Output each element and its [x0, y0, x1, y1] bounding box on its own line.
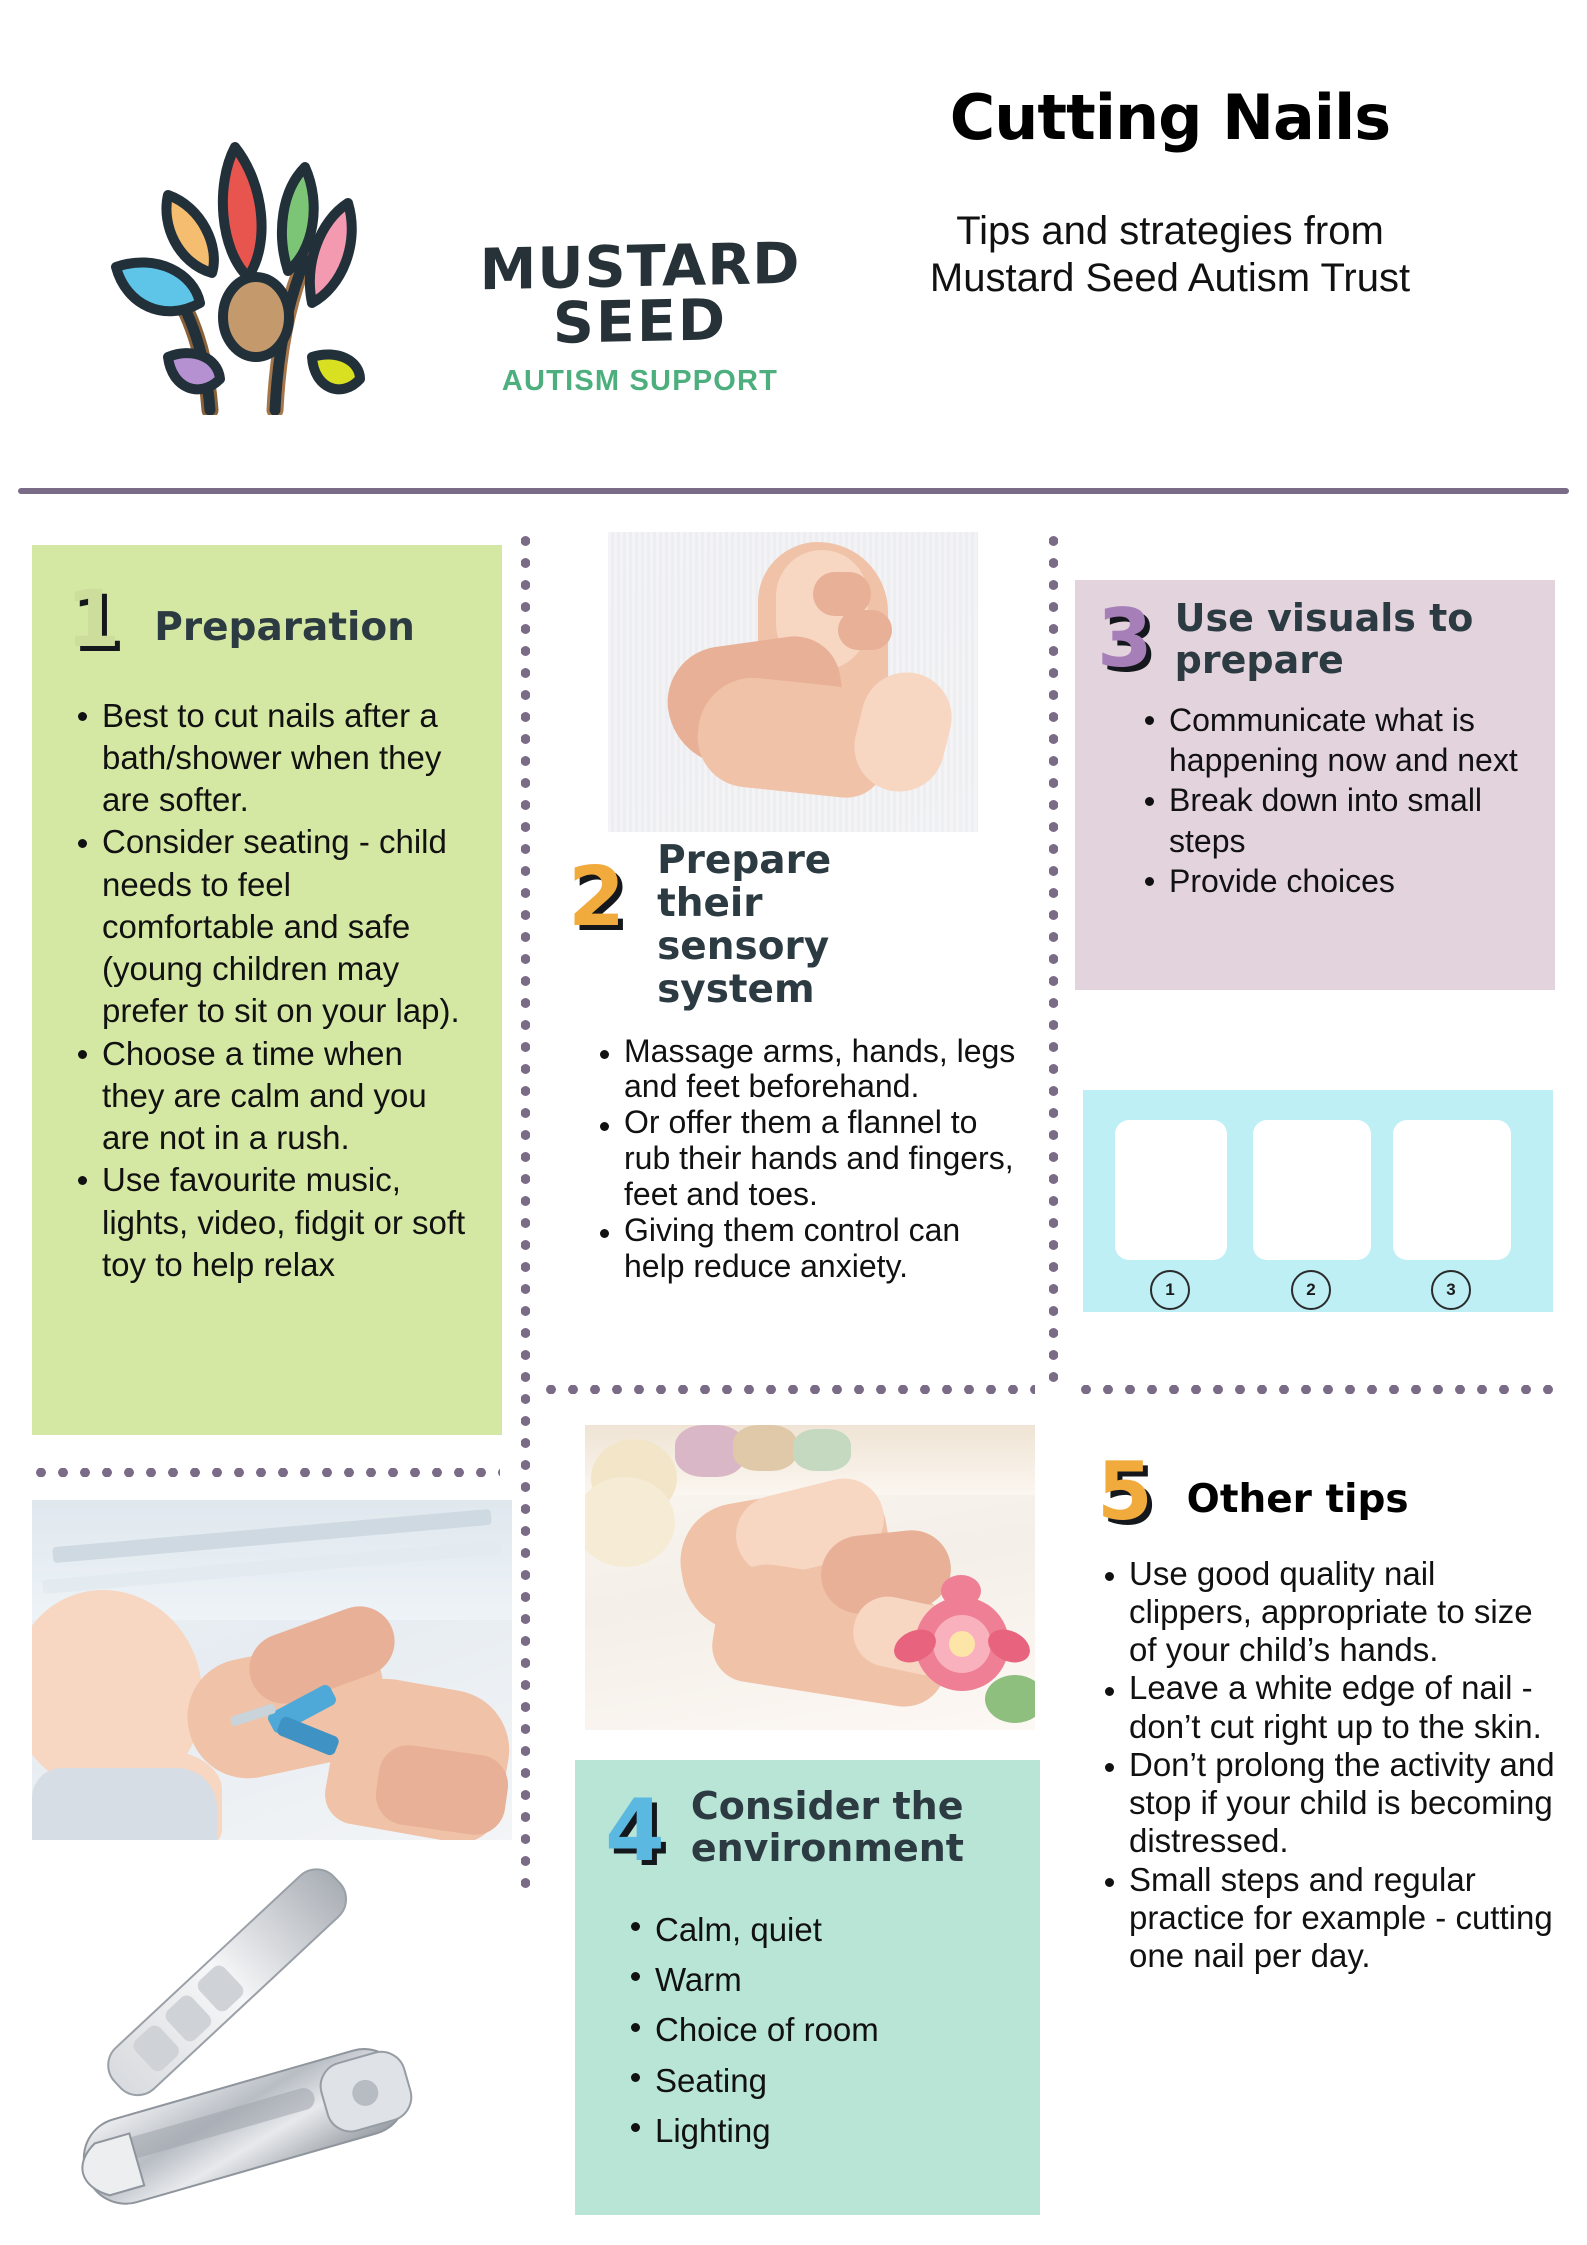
- photo-baby-nails: [32, 1500, 512, 1840]
- title-block: Cutting Nails Tips and strategies from M…: [800, 85, 1540, 302]
- list-item: Warm: [623, 1955, 1020, 2005]
- panel-4-number: 4: [605, 1792, 665, 1871]
- row-divider-col1: [30, 1468, 500, 1477]
- column-divider-right-upper: [1049, 530, 1058, 1385]
- list-item: Break down into small steps: [1137, 780, 1533, 861]
- photo-feet-massage: [608, 532, 978, 832]
- list-item: Leave a white edge of nail - don’t cut r…: [1097, 1669, 1559, 1746]
- panel-3-bullet-list: Communicate what is happening now and ne…: [1137, 700, 1533, 902]
- header: MUSTARD SEED AUTISM SUPPORT Cutting Nail…: [0, 0, 1587, 500]
- panel-sensory-system: 2 Prepare their sensory system Massage a…: [540, 840, 1040, 1360]
- panel-use-visuals: 3 Use visuals to prepare Communicate wha…: [1075, 580, 1555, 990]
- panel-preparation: 1 Preparation Best to cut nails after a …: [32, 545, 502, 1435]
- schedule-card: [1253, 1120, 1371, 1260]
- logo-wordmark: MUSTARD SEED AUTISM SUPPORT: [460, 240, 820, 398]
- list-item: Seating: [623, 2056, 1020, 2106]
- list-item: Or offer them a flannel to rub their han…: [592, 1105, 1024, 1212]
- list-item: Calm, quiet: [623, 1905, 1020, 1955]
- list-item: Choice of room: [623, 2005, 1020, 2055]
- panel-1-bullet-list: Best to cut nails after a bath/shower wh…: [70, 695, 472, 1286]
- panel-environment: 4 Consider the environment Calm, quiet W…: [575, 1760, 1040, 2215]
- panel-5-title: Other tips: [1187, 1479, 1409, 1522]
- schedule-step-number: 2: [1291, 1270, 1331, 1310]
- header-divider: [18, 488, 1569, 494]
- panel-4-heading: 4 Consider the environment: [575, 1760, 1040, 1871]
- list-item: Use good quality nail clippers, appropri…: [1097, 1555, 1559, 1670]
- panel-3-number: 3: [1097, 602, 1153, 676]
- photo-nail-clippers: [32, 1860, 512, 2215]
- panel-2-bullet-list: Massage arms, hands, legs and feet befor…: [592, 1034, 1024, 1285]
- page-title: Cutting Nails: [800, 85, 1540, 150]
- panel-1-heading: 1 Preparation: [32, 545, 502, 657]
- infographic-page: MUSTARD SEED AUTISM SUPPORT Cutting Nail…: [0, 0, 1587, 2245]
- list-item: Don’t prolong the activity and stop if y…: [1097, 1746, 1559, 1861]
- photo-spa-hand-massage: [585, 1425, 1035, 1730]
- subtitle-line-2: Mustard Seed Autism Trust: [800, 255, 1540, 302]
- panel-3-title: Use visuals to prepare: [1175, 598, 1505, 682]
- panel-2-heading: 2 Prepare their sensory system: [540, 840, 1040, 1012]
- schedule-step-number: 3: [1431, 1270, 1471, 1310]
- panel-4-bullet-list: Calm, quiet Warm Choice of room Seating …: [623, 1905, 1020, 2156]
- mustard-seed-tree-logo-icon: [60, 55, 460, 415]
- column-divider-left: [521, 530, 530, 1890]
- schedule-card: [1393, 1120, 1511, 1260]
- panel-1-number: 1: [66, 585, 120, 657]
- panel-4-title: Consider the environment: [691, 1786, 971, 1870]
- list-item: Lighting: [623, 2106, 1020, 2156]
- row-divider-col2: [540, 1385, 1035, 1394]
- subtitle-line-1: Tips and strategies from: [800, 208, 1540, 255]
- panel-5-heading: 5 Other tips: [1075, 1455, 1565, 1529]
- nail-clippers-icon: [32, 1860, 512, 2215]
- logo-tagline: AUTISM SUPPORT: [460, 365, 820, 398]
- list-item: Best to cut nails after a bath/shower wh…: [70, 695, 472, 822]
- panel-5-number: 5: [1097, 1455, 1153, 1529]
- list-item: Giving them control can help reduce anxi…: [592, 1213, 1024, 1285]
- schedule-step-number: 1: [1150, 1270, 1190, 1310]
- list-item: Small steps and regular practice for exa…: [1097, 1861, 1559, 1976]
- list-item: Provide choices: [1137, 861, 1533, 901]
- logo: MUSTARD SEED AUTISM SUPPORT: [60, 55, 780, 435]
- panel-other-tips: 5 Other tips Use good quality nail clipp…: [1075, 1455, 1565, 2215]
- list-item: Use favourite music, lights, video, fidg…: [70, 1159, 472, 1286]
- panel-2-number: 2: [568, 860, 625, 935]
- logo-brand-line2: SEED: [460, 290, 820, 355]
- page-subtitle: Tips and strategies from Mustard Seed Au…: [800, 208, 1540, 302]
- schedule-card: [1115, 1120, 1227, 1260]
- panel-1-title: Preparation: [154, 607, 415, 650]
- visual-schedule: 1 2 3: [1083, 1090, 1553, 1312]
- list-item: Consider seating - child needs to feel c…: [70, 821, 472, 1032]
- list-item: Communicate what is happening now and ne…: [1137, 700, 1533, 781]
- panel-3-heading: 3 Use visuals to prepare: [1075, 580, 1555, 682]
- list-item: Massage arms, hands, legs and feet befor…: [592, 1034, 1024, 1106]
- panel-5-bullet-list: Use good quality nail clippers, appropri…: [1097, 1555, 1559, 1976]
- panel-2-title: Prepare their sensory system: [657, 840, 927, 1012]
- list-item: Choose a time when they are calm and you…: [70, 1033, 472, 1160]
- row-divider-col3: [1075, 1385, 1555, 1394]
